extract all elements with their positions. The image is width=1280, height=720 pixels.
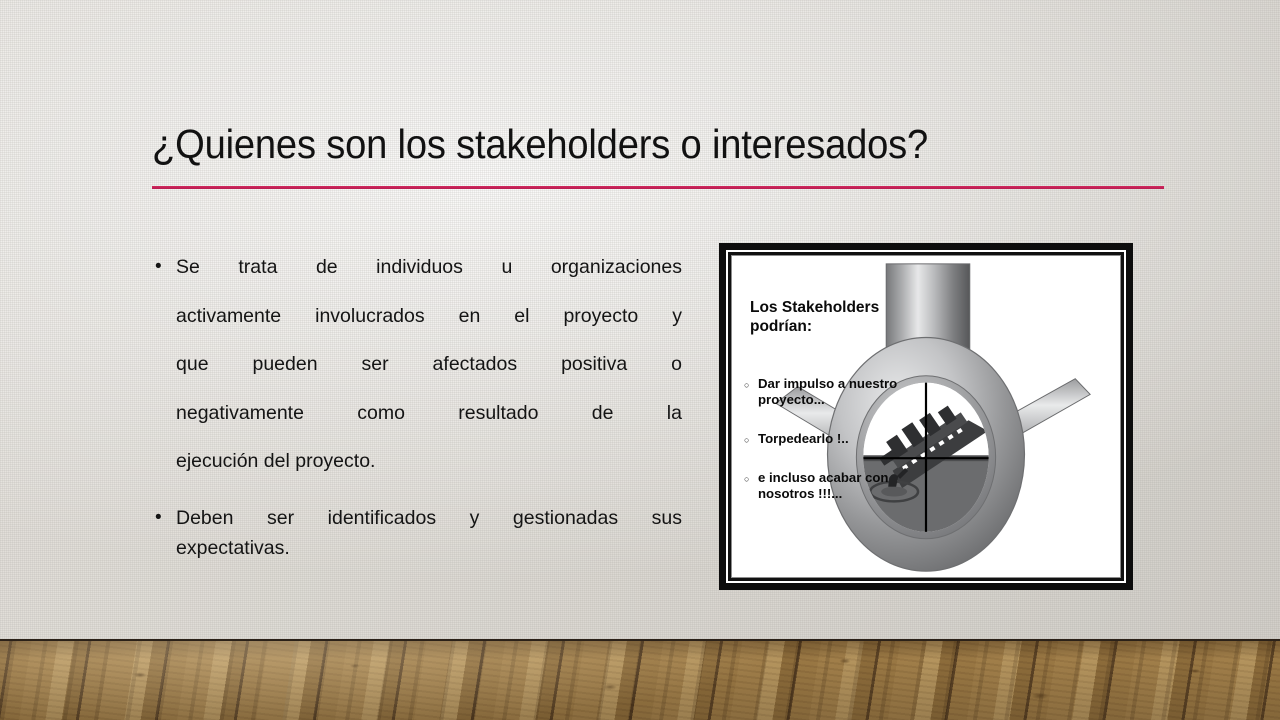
wood-floor [0, 639, 1280, 720]
title-underline-rule [152, 186, 1164, 189]
bullet-line: ejecución del proyecto. [176, 437, 682, 486]
clipart-heading-line-2: podrían: [750, 318, 812, 335]
clipart-heading-line-1: Los Stakeholders [750, 299, 879, 316]
clipart-list-item: Torpedearlo !.. [744, 431, 924, 447]
clipart-list-item: Dar impulso a nuestro proyecto... [744, 376, 924, 408]
clipart-list-item: e incluso acabar con nosotros !!!... [744, 470, 924, 502]
picture-frame: Los Stakeholders podrían: Dar impulso a … [719, 243, 1133, 590]
slide: ¿Quienes son los stakeholders o interesa… [0, 0, 1280, 720]
picture-canvas: Los Stakeholders podrían: Dar impulso a … [731, 255, 1121, 578]
bullet-line: que pueden ser afectados positiva o [176, 340, 682, 389]
picture-frame-inner-border: Los Stakeholders podrían: Dar impulso a … [726, 250, 1126, 583]
bullet-item: Se trata de individuos u organizaciones … [152, 243, 682, 486]
body-text-column: Se trata de individuos u organizaciones … [152, 243, 682, 563]
bullet-line: Deben ser identificados y gestionadas su… [176, 503, 682, 533]
bullet-line: negativamente como resultado de la [176, 389, 682, 438]
clipart-list: Dar impulso a nuestro proyecto... Torped… [744, 376, 924, 525]
bullet-line: activamente involucrados en el proyecto … [176, 292, 682, 341]
bullet-line: Se trata de individuos u organizaciones [176, 243, 682, 292]
clipart-heading: Los Stakeholders podrían: [750, 298, 925, 336]
bullet-line: expectativas. [176, 533, 682, 563]
page-title: ¿Quienes son los stakeholders o interesa… [152, 118, 1101, 170]
bullet-item: Deben ser identificados y gestionadas su… [152, 503, 682, 563]
floor-shading [0, 641, 1280, 720]
